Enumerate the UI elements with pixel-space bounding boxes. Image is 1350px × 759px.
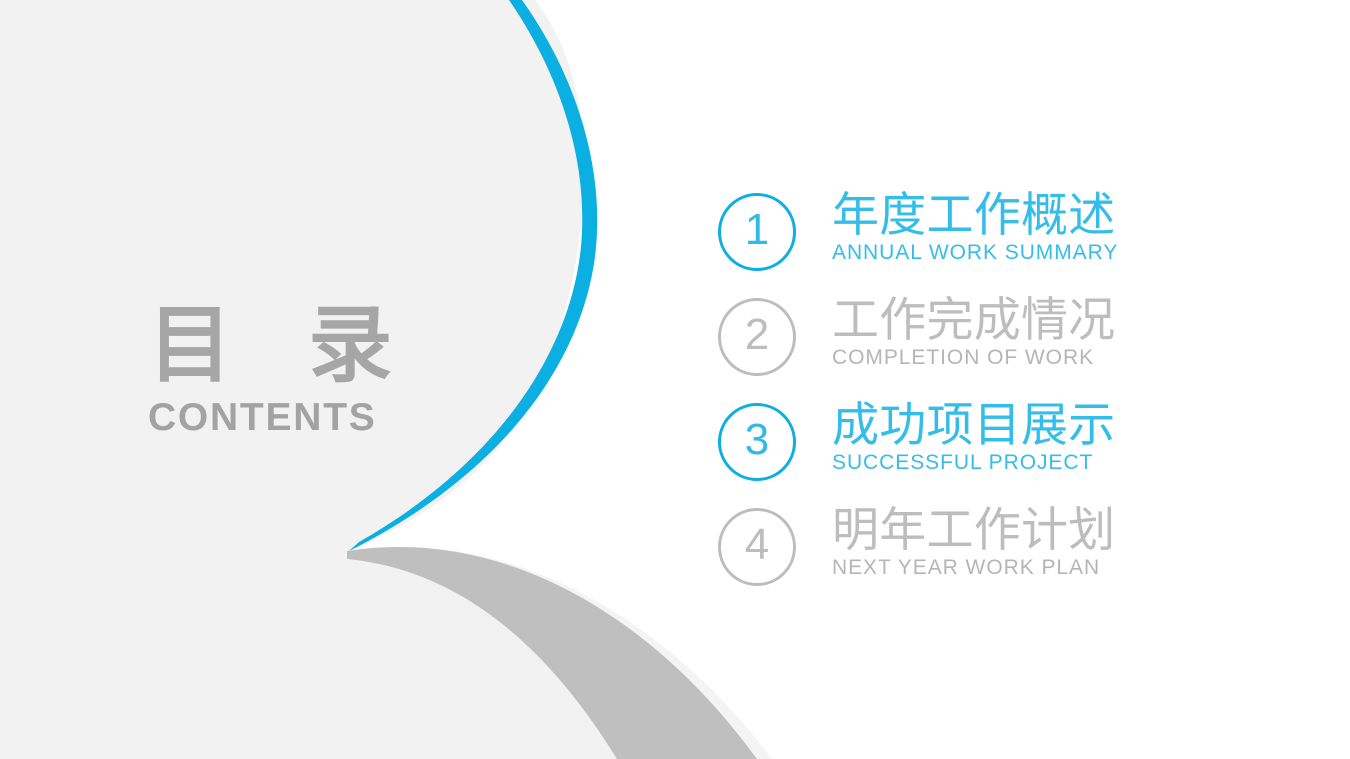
toc-label-en-1: ANNUAL WORK SUMMARY xyxy=(832,241,1118,264)
toc-number-circle-4: 4 xyxy=(718,508,796,586)
toc-number-circle-2: 2 xyxy=(718,298,796,376)
toc-label-en-3: SUCCESSFUL PROJECT xyxy=(832,451,1115,474)
toc-label-en-4: NEXT YEAR WORK PLAN xyxy=(832,556,1115,579)
toc-number-circle-1: 1 xyxy=(718,193,796,271)
page-title-en: CONTENTS xyxy=(148,396,478,440)
presentation-slide: 目 录 CONTENTS 1 年度工作概述 ANNUAL WORK SUMMAR… xyxy=(0,0,1350,759)
toc-label-cn-2: 工作完成情况 xyxy=(832,296,1115,347)
toc-number-4: 4 xyxy=(745,523,769,567)
toc-label-cn-1: 年度工作概述 xyxy=(832,191,1118,242)
toc-number-1: 1 xyxy=(745,208,769,252)
page-title-cn: 目 录 xyxy=(148,306,478,386)
toc-text-3: 成功项目展示 SUCCESSFUL PROJECT xyxy=(832,401,1115,474)
toc-label-en-2: COMPLETION OF WORK xyxy=(832,346,1115,369)
toc-number-2: 2 xyxy=(745,313,769,357)
toc-text-4: 明年工作计划 NEXT YEAR WORK PLAN xyxy=(832,506,1115,579)
toc-label-cn-4: 明年工作计划 xyxy=(832,506,1115,557)
toc-text-1: 年度工作概述 ANNUAL WORK SUMMARY xyxy=(832,191,1118,264)
toc-label-cn-3: 成功项目展示 xyxy=(832,401,1115,452)
toc-number-circle-3: 3 xyxy=(718,403,796,481)
toc-number-3: 3 xyxy=(745,418,769,462)
toc-text-2: 工作完成情况 COMPLETION OF WORK xyxy=(832,296,1115,369)
page-title: 目 录 CONTENTS xyxy=(148,306,478,440)
